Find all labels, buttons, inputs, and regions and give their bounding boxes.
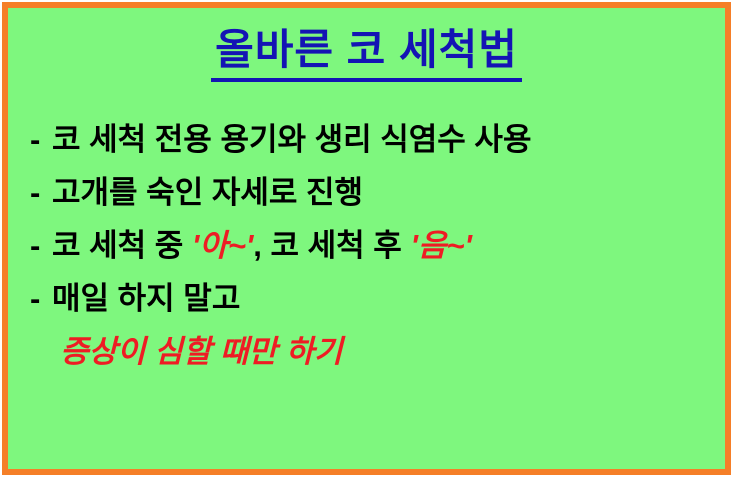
emphasis-text-inhale: '아~'	[192, 228, 253, 263]
list-item: -매일 하지 말고	[30, 272, 715, 325]
list-item: -코 세척 전용 용기와 생리 식염수 사용	[30, 113, 715, 166]
list-item-sub-text: 증상이 심할 때만 하기	[30, 325, 715, 378]
list-item-text: 고개를 숙인 자세로 진행	[52, 175, 363, 210]
list-item-text: 코 세척 전용 용기와 생리 식염수 사용	[52, 122, 531, 157]
bullet-dash-icon: -	[30, 166, 52, 219]
list-item: -고개를 숙인 자세로 진행	[30, 166, 715, 219]
bullet-dash-icon: -	[30, 272, 52, 325]
list-item-text: 매일 하지 말고	[52, 281, 240, 316]
instruction-list: -코 세척 전용 용기와 생리 식염수 사용 -고개를 숙인 자세로 진행 -코…	[30, 113, 715, 378]
page-title: 올바른 코 세척법	[211, 28, 522, 82]
emphasis-text-exhale: '음~'	[410, 228, 471, 263]
bullet-dash-icon: -	[30, 219, 52, 272]
title-container: 올바른 코 세척법	[8, 28, 725, 82]
poster-content: 올바른 코 세척법 -코 세척 전용 용기와 생리 식염수 사용 -고개를 숙인…	[8, 8, 725, 469]
list-item-text: 코 세척 중	[52, 228, 192, 263]
poster-card: 올바른 코 세척법 -코 세척 전용 용기와 생리 식염수 사용 -고개를 숙인…	[2, 2, 731, 475]
list-item-text: , 코 세척 후	[253, 228, 410, 263]
list-item: -코 세척 중 '아~', 코 세척 후 '음~'	[30, 219, 715, 272]
bullet-dash-icon: -	[30, 113, 52, 166]
